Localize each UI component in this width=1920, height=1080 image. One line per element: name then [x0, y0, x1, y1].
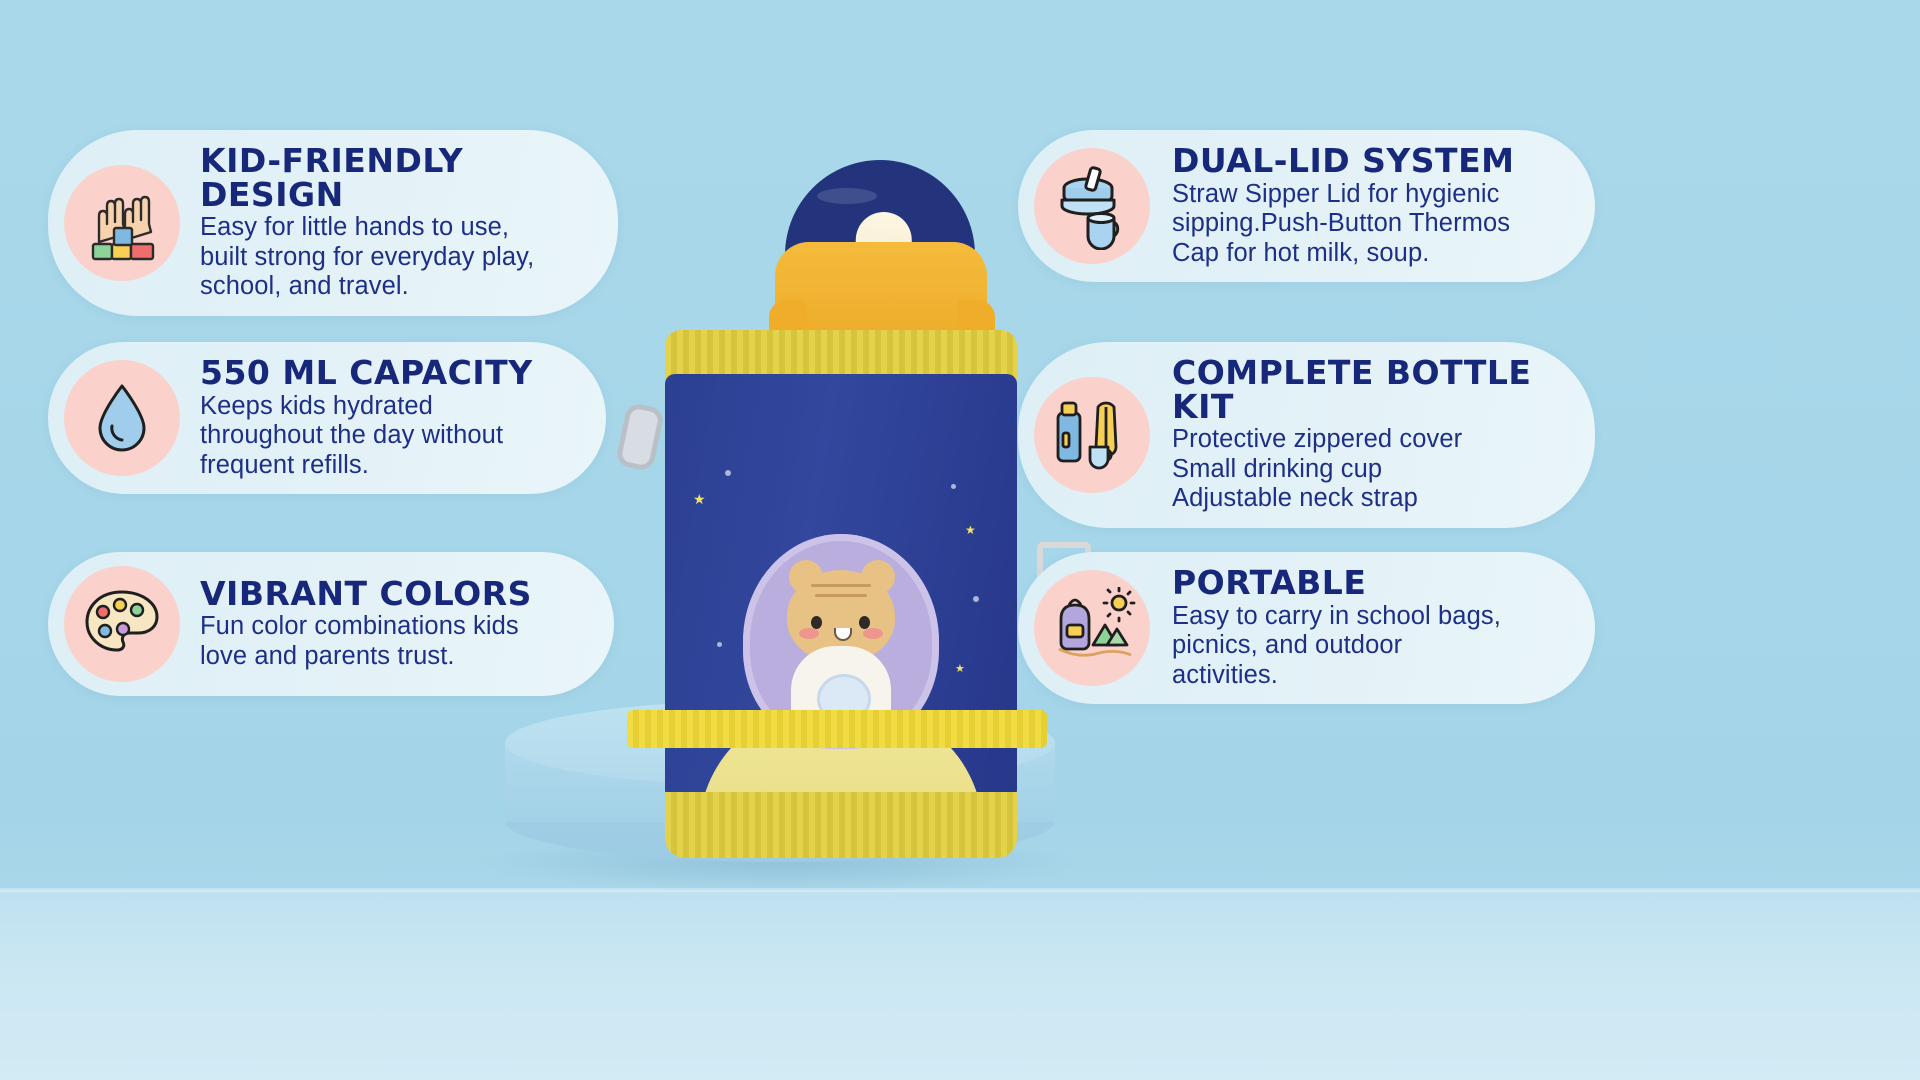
feature-card-complete-bottle-kit[interactable]: COMPLETE BOTTLE KIT Protective zippered … — [1018, 342, 1595, 528]
complete-bottle-kit-title: COMPLETE BOTTLE KIT — [1172, 356, 1569, 423]
decor-dot — [717, 642, 722, 647]
cat-mouth — [834, 628, 852, 641]
dual-lid-system-text: DUAL-LID SYSTEM Straw Sipper Lid for hyg… — [1150, 144, 1524, 268]
kid-friendly-design-title: KID-FRIENDLY DESIGN — [200, 144, 582, 211]
cat-eye-left — [811, 616, 822, 629]
feature-card-capacity[interactable]: 550 ML CAPACITY Keeps kids hydrated thro… — [48, 342, 606, 494]
cat-stripe — [811, 584, 871, 587]
kid-friendly-design-text: KID-FRIENDLY DESIGN Easy for little hand… — [180, 144, 588, 302]
decor-dot — [951, 484, 956, 489]
water-drop-icon — [82, 378, 162, 458]
cat-blush-left — [799, 628, 819, 639]
strap-lower-band — [627, 710, 1047, 748]
capacity-body: Keeps kids hydrated throughout the day w… — [200, 392, 533, 481]
complete-bottle-kit-body: Protective zippered cover Small drinking… — [1172, 425, 1569, 514]
raised-hands-blocks-icon — [79, 180, 165, 266]
paint-palette-icon — [79, 584, 165, 664]
background-horizon-line — [0, 888, 1920, 892]
thermos-strap-cup-icon — [1046, 393, 1138, 477]
decor-dot — [973, 596, 979, 602]
vibrant-colors-body: Fun color combinations kids love and par… — [200, 612, 532, 671]
kid-friendly-design-body: Easy for little hands to use, built stro… — [200, 213, 582, 302]
capacity-text: 550 ML CAPACITY Keeps kids hydrated thro… — [180, 356, 539, 480]
capacity-title: 550 ML CAPACITY — [200, 356, 533, 390]
bottle-sleeve: COME ON ★ ★ ★ — [665, 330, 1017, 870]
infographic-canvas: COME ON ★ ★ ★ — [0, 0, 1920, 1080]
kid-friendly-design-badge — [64, 165, 180, 281]
portable-text: PORTABLE Easy to carry in school bags, p… — [1150, 566, 1511, 690]
backpack-outdoor-icon — [1045, 587, 1139, 669]
feature-card-portable[interactable]: PORTABLE Easy to carry in school bags, p… — [1018, 552, 1595, 704]
feature-card-dual-lid-system[interactable]: DUAL-LID SYSTEM Straw Sipper Lid for hyg… — [1018, 130, 1595, 282]
dual-lid-system-badge — [1034, 148, 1150, 264]
product-image-bottle: COME ON ★ ★ ★ — [585, 150, 1105, 870]
complete-bottle-kit-badge — [1034, 377, 1150, 493]
complete-bottle-kit-text: COMPLETE BOTTLE KIT Protective zippered … — [1150, 356, 1579, 514]
vibrant-colors-text: VIBRANT COLORS Fun color combinations ki… — [180, 577, 538, 672]
portable-body: Easy to carry in school bags, picnics, a… — [1172, 602, 1501, 691]
cat-stripe — [815, 594, 867, 597]
portable-badge — [1034, 570, 1150, 686]
decor-dot — [725, 470, 731, 476]
straw-lid-and-cup-icon — [1048, 162, 1136, 250]
vibrant-colors-badge — [64, 566, 180, 682]
feature-card-vibrant-colors[interactable]: VIBRANT COLORS Fun color combinations ki… — [48, 552, 614, 696]
background-floor — [0, 890, 1920, 1080]
sleeve-bottom-trim — [665, 792, 1017, 858]
dual-lid-system-title: DUAL-LID SYSTEM — [1172, 144, 1514, 178]
sleeve-top-trim — [665, 330, 1017, 380]
portable-title: PORTABLE — [1172, 566, 1501, 600]
vibrant-colors-title: VIBRANT COLORS — [200, 577, 532, 611]
star-icon: ★ — [965, 524, 976, 536]
cat-eye-right — [859, 616, 870, 629]
capacity-badge — [64, 360, 180, 476]
dual-lid-system-body: Straw Sipper Lid for hygienic sipping.Pu… — [1172, 180, 1514, 269]
feature-card-kid-friendly-design[interactable]: KID-FRIENDLY DESIGN Easy for little hand… — [48, 130, 618, 316]
star-icon: ★ — [693, 492, 706, 506]
star-icon: ★ — [955, 664, 965, 675]
cat-blush-right — [863, 628, 883, 639]
